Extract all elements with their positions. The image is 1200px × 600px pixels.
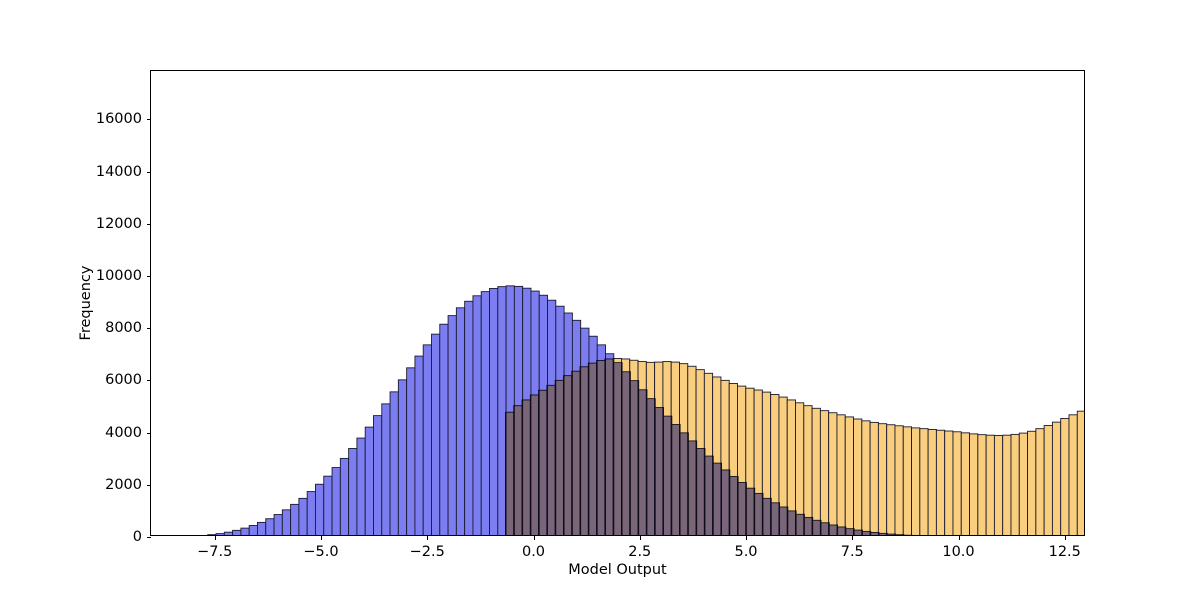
histogram-bar [332, 468, 340, 535]
histogram-bar [456, 308, 464, 535]
histogram-bar [522, 400, 530, 535]
histogram-bar [837, 415, 845, 535]
histogram-bar [597, 361, 605, 535]
histogram-bar [829, 413, 837, 535]
histogram-bar [862, 421, 870, 535]
histogram-bar [307, 492, 315, 535]
histogram-bar [498, 287, 506, 535]
histogram-bar [539, 390, 547, 535]
y-tick-mark [147, 224, 152, 225]
histogram-bar [679, 364, 687, 535]
histogram-bar [870, 422, 878, 535]
histogram-bar [1052, 422, 1060, 535]
x-tick-label: 7.5 [841, 544, 864, 560]
histogram-bar [340, 458, 348, 535]
x-tick-label: 5.0 [734, 544, 757, 560]
histogram-bar [961, 433, 969, 535]
x-tick-label: −2.5 [410, 544, 445, 560]
histogram-bar [895, 426, 903, 535]
histogram-bar [655, 362, 663, 535]
y-tick-label: 16000 [96, 111, 142, 127]
histogram-bar [671, 362, 679, 535]
x-tick-label: 12.5 [1049, 544, 1081, 560]
histogram-bar [621, 359, 629, 535]
histogram-bar [440, 324, 448, 535]
x-axis-label: Model Output [150, 562, 1085, 578]
y-tick-label: 0 [133, 529, 142, 545]
histogram-bar [588, 363, 596, 535]
histogram-bar [1061, 418, 1069, 535]
histogram-bar [729, 383, 737, 535]
histogram-bar [241, 528, 249, 535]
y-tick-label: 14000 [96, 164, 142, 180]
histogram-bar [771, 394, 779, 535]
histogram-bar [382, 404, 390, 535]
y-tick-label: 8000 [105, 320, 142, 336]
histogram-bar [357, 438, 365, 535]
histogram-bar [970, 434, 978, 535]
x-tick-label: −5.0 [303, 544, 338, 560]
histogram-bar [407, 368, 415, 535]
histogram-bar [547, 385, 555, 535]
y-tick-mark [147, 276, 152, 277]
histogram-bar [613, 358, 621, 535]
histogram-bar [572, 371, 580, 535]
histogram-bars [151, 71, 1084, 535]
histogram-bar [465, 301, 473, 535]
histogram-bar [713, 377, 721, 535]
histogram-bar [216, 534, 224, 535]
histogram-series-positive-class [505, 93, 1084, 535]
histogram-figure: 0200040006000800010000120001400016000 −7… [0, 0, 1200, 600]
histogram-bar [514, 406, 522, 535]
histogram-bar [953, 432, 961, 535]
histogram-bar [928, 429, 936, 535]
histogram-bar [365, 427, 373, 535]
histogram-bar [299, 498, 307, 535]
y-tick-mark [147, 380, 152, 381]
histogram-bar [887, 425, 895, 535]
y-tick-mark [147, 328, 152, 329]
histogram-bar [1011, 434, 1019, 535]
y-tick-mark [147, 172, 152, 173]
x-tick-label: 0.0 [522, 544, 545, 560]
histogram-bar [274, 515, 282, 535]
histogram-bar [432, 334, 440, 535]
histogram-bar [721, 380, 729, 535]
histogram-bar [423, 345, 431, 535]
y-tick-label: 12000 [96, 216, 142, 232]
histogram-bar [903, 427, 911, 535]
histogram-bar [291, 504, 299, 535]
histogram-bar [415, 356, 423, 535]
histogram-bar [812, 408, 820, 535]
histogram-bar [398, 380, 406, 535]
histogram-bar [490, 288, 498, 535]
y-tick-label: 10000 [96, 268, 142, 284]
histogram-bar [630, 360, 638, 535]
plot-area [151, 71, 1084, 535]
histogram-bar [349, 449, 357, 536]
y-tick-mark [147, 119, 152, 120]
histogram-bar [945, 431, 953, 535]
histogram-bar [373, 416, 381, 535]
histogram-bar [804, 406, 812, 535]
histogram-bar [315, 484, 323, 535]
x-tick-mark [852, 535, 853, 540]
x-tick-mark [215, 535, 216, 540]
histogram-bar [754, 390, 762, 535]
histogram-bar [746, 388, 754, 535]
histogram-bar [646, 362, 654, 535]
x-tick-label: 10.0 [942, 544, 974, 560]
histogram-bar [1028, 431, 1036, 535]
x-tick-mark [321, 535, 322, 540]
histogram-bar [266, 519, 274, 535]
histogram-bar [1003, 435, 1011, 535]
histogram-bar [978, 435, 986, 535]
histogram-bar [912, 428, 920, 535]
histogram-bar [390, 392, 398, 535]
histogram-bar [688, 366, 696, 535]
histogram-bar [779, 397, 787, 535]
histogram-bar [233, 530, 241, 535]
histogram-bar [820, 411, 828, 535]
x-tick-mark [427, 535, 428, 540]
histogram-bar [563, 376, 571, 535]
histogram-bar [920, 429, 928, 535]
histogram-bar [324, 476, 332, 535]
histogram-bar [994, 435, 1002, 535]
histogram-bar [473, 296, 481, 535]
x-tick-label: 2.5 [628, 544, 651, 560]
histogram-bar [738, 386, 746, 535]
x-tick-label: −7.5 [197, 544, 232, 560]
histogram-bar [224, 532, 232, 535]
histogram-bar [936, 430, 944, 535]
histogram-bar [505, 412, 513, 535]
histogram-bar [555, 380, 563, 535]
histogram-bar [986, 435, 994, 535]
histogram-bar [481, 292, 489, 535]
histogram-bar [878, 424, 886, 535]
histogram-bar [605, 359, 613, 535]
y-tick-mark [147, 537, 152, 538]
x-tick-mark [746, 535, 747, 540]
histogram-bar [762, 392, 770, 535]
histogram-bar [796, 403, 804, 535]
histogram-bar [1019, 433, 1027, 535]
histogram-bar [282, 510, 290, 535]
histogram-bar [845, 417, 853, 535]
histogram-bar [638, 362, 646, 535]
x-tick-mark [534, 535, 535, 540]
histogram-bar [787, 400, 795, 535]
histogram-bar [663, 362, 671, 535]
x-tick-mark [1065, 535, 1066, 540]
y-tick-label: 4000 [105, 425, 142, 441]
histogram-bar [448, 316, 456, 535]
histogram-bar [1036, 429, 1044, 535]
histogram-bar [257, 522, 265, 535]
histogram-bar [696, 370, 704, 535]
histogram-bar [249, 526, 257, 535]
histogram-bar [1044, 426, 1052, 535]
x-tick-mark [959, 535, 960, 540]
y-tick-label: 2000 [105, 477, 142, 493]
y-tick-mark [147, 485, 152, 486]
y-tick-mark [147, 433, 152, 434]
histogram-bar [580, 367, 588, 535]
histogram-bar [530, 395, 538, 535]
histogram-bar [854, 419, 862, 535]
y-tick-label: 6000 [105, 372, 142, 388]
histogram-bar [1069, 415, 1077, 535]
plot-axes: 0200040006000800010000120001400016000 −7… [150, 70, 1085, 536]
y-axis-label: Frequency [78, 70, 94, 536]
x-tick-mark [640, 535, 641, 540]
histogram-bar [704, 373, 712, 535]
histogram-bar [1077, 411, 1084, 535]
